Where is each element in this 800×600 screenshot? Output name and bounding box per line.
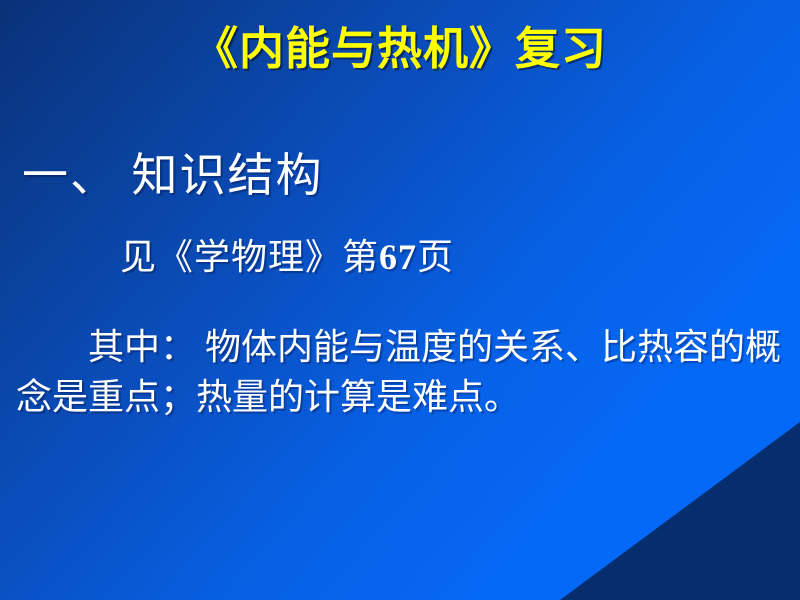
presentation-slide: 《内能与热机》复习 一、 知识结构 见《学物理》第67页 其中： 物体内能与温度… xyxy=(0,0,800,600)
reference-line: 见《学物理》第67页 xyxy=(120,236,454,279)
corner-triangle-decoration xyxy=(560,422,800,600)
slide-title: 《内能与热机》复习 xyxy=(0,22,800,75)
reference-line-suffix: 页 xyxy=(417,237,454,277)
body-paragraph: 其中： 物体内能与温度的关系、比热容的概念是重点；热量的计算是难点。 xyxy=(16,322,796,423)
section-heading: 一、 知识结构 xyxy=(22,148,324,203)
reference-line-prefix: 见《学物理》第 xyxy=(120,237,379,277)
reference-page-number: 67 xyxy=(379,237,417,277)
